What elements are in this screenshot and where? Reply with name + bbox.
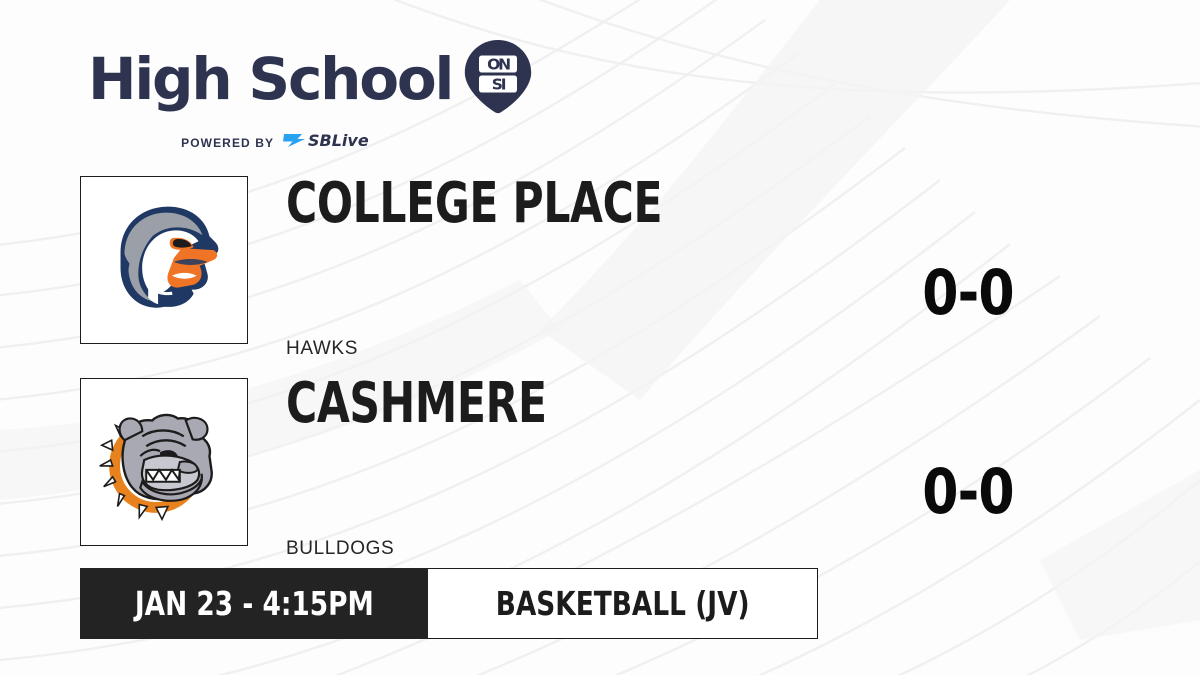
pin-text-si: SI: [492, 75, 506, 93]
onsi-pin-icon: ON SI: [462, 38, 534, 123]
game-info-banner: JAN 23 - 4:15PM BASKETBALL (JV): [80, 568, 818, 639]
powered-by-row: POWERED BY SBLive: [88, 130, 478, 155]
team-record-1: 0-0: [884, 262, 1052, 324]
game-datetime-block: JAN 23 - 4:15PM: [80, 568, 428, 639]
team-logo-box-1: [80, 176, 248, 344]
matchup-graphic: High School ON SI POWERED BY SBLive: [0, 0, 1200, 675]
game-datetime-text: JAN 23 - 4:15PM: [135, 584, 374, 623]
team-mascot-1: HAWKS: [286, 338, 358, 360]
sblive-logo: SBLive: [281, 130, 385, 155]
team-logo-box-2: [80, 378, 248, 546]
brand-lockup: High School ON SI POWERED BY SBLive: [88, 36, 534, 155]
team-name-1: COLLEGE PLACE: [286, 176, 662, 232]
team-mascot-2: BULLDOGS: [286, 538, 394, 560]
bulldog-head-logo: [81, 379, 247, 545]
team-record-2: 0-0: [884, 461, 1052, 523]
brand-wordmark: High School ON SI: [88, 36, 534, 121]
game-sport-text: BASKETBALL (JV): [496, 584, 750, 623]
brand-name-text: High School: [88, 50, 452, 108]
powered-by-label: POWERED BY: [181, 136, 274, 150]
hawk-head-logo: [81, 177, 247, 343]
team-name-2: CASHMERE: [286, 376, 547, 432]
pin-text-on: ON: [487, 55, 510, 73]
sblive-text: SBLive: [308, 131, 369, 150]
game-sport-block: BASKETBALL (JV): [428, 568, 818, 639]
